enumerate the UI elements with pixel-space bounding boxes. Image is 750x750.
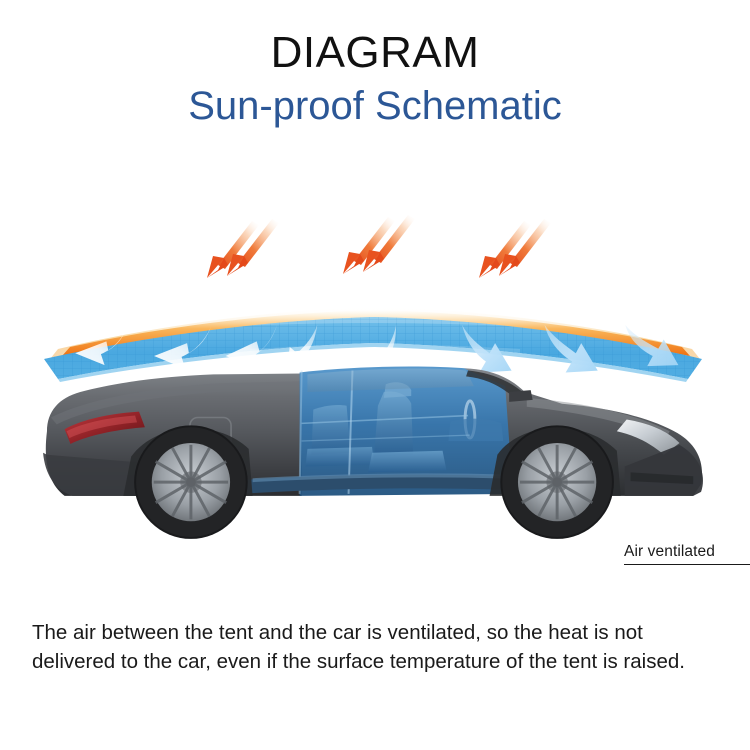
page-title: DIAGRAM — [0, 30, 750, 76]
diagram-page: DIAGRAM Sun-proof Schematic — [0, 0, 750, 750]
front-wheel — [500, 425, 614, 539]
caption-text: The air between the tent and the car is … — [32, 618, 722, 676]
rear-wheel — [134, 425, 248, 539]
air-ventilated-label: Air ventilated — [624, 543, 750, 565]
page-subtitle: Sun-proof Schematic — [0, 84, 750, 128]
diagram-stage: Air ventilated — [0, 195, 750, 580]
side-mirror — [509, 390, 532, 402]
title-block: DIAGRAM Sun-proof Schematic — [0, 30, 750, 128]
